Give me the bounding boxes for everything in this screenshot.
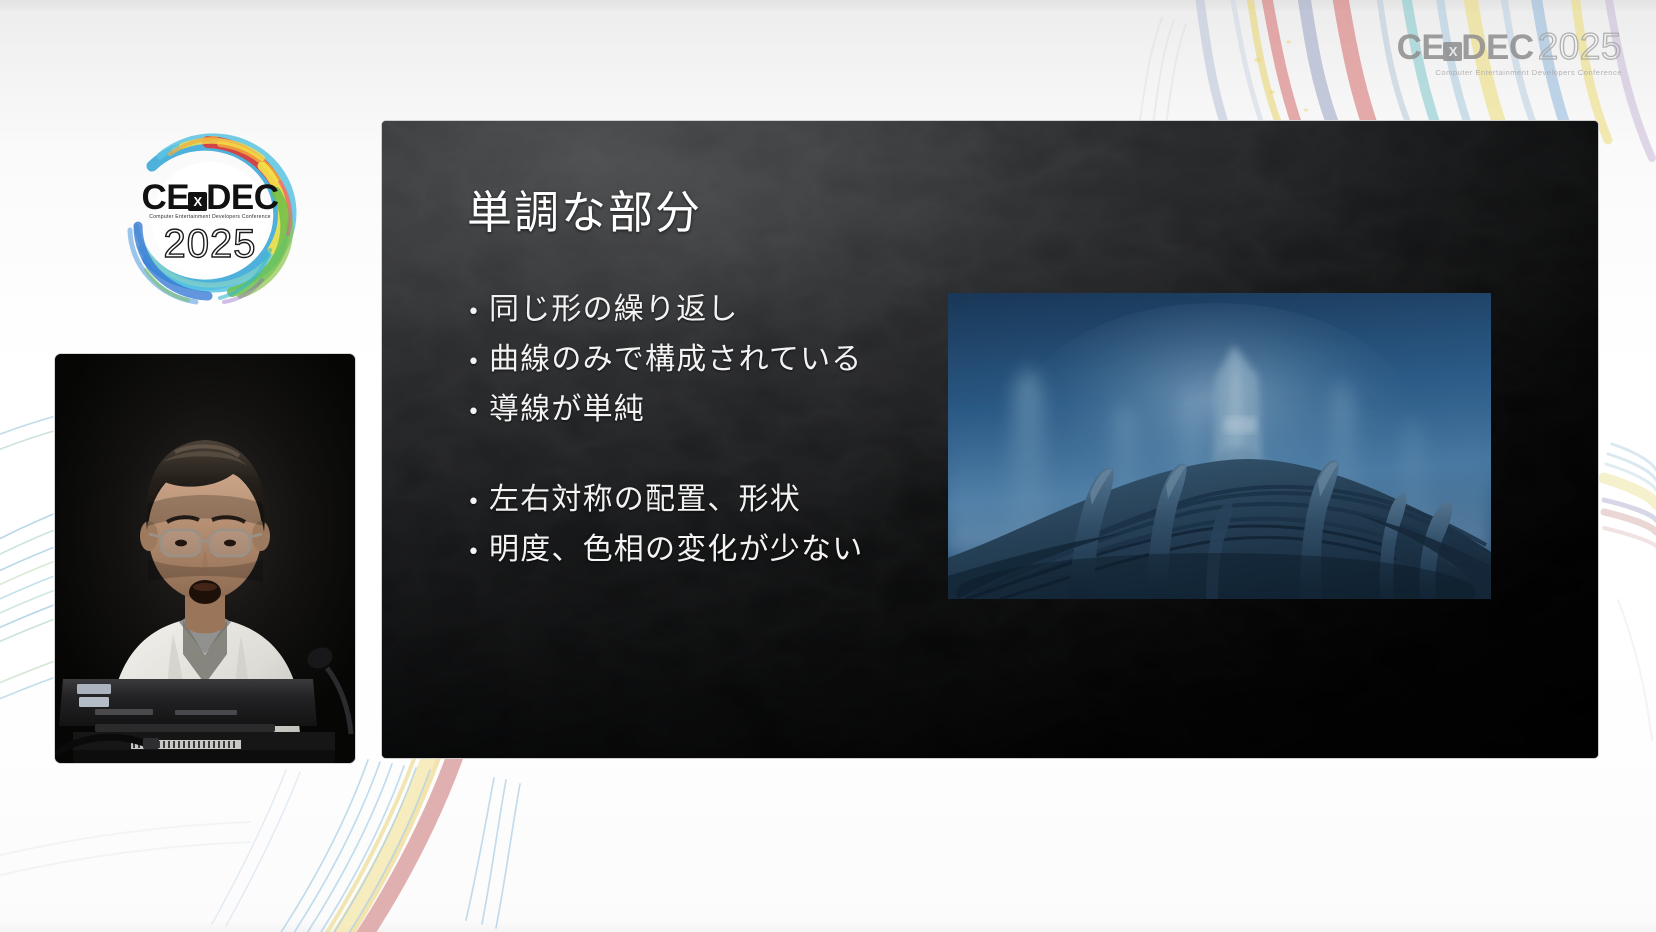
bullet-text: 左右対称の配置、形状 xyxy=(489,476,801,523)
bullet-marker-icon: • xyxy=(467,529,489,576)
wordmark-letters-left: CE xyxy=(1397,28,1445,67)
slide-bullet-group-a: • 同じ形の繰り返し • 曲線のみで構成されている • 導線が単純 xyxy=(467,286,863,436)
slide-bullet-item: • 同じ形の繰り返し xyxy=(467,286,863,336)
bullet-text: 曲線のみで構成されている xyxy=(489,336,863,383)
bullet-marker-icon: • xyxy=(467,339,489,386)
ring-logo-x-badge: X xyxy=(188,192,207,211)
screen-capture: CEXDEC Computer Entertainment Developers… xyxy=(0,0,1656,932)
slide-bullet-item: • 曲線のみで構成されている xyxy=(467,336,863,386)
bullet-text: 導線が単純 xyxy=(489,386,645,433)
ring-logo-letters-left: CE xyxy=(141,178,189,217)
presentation-slide[interactable]: 単調な部分 • 同じ形の繰り返し • 曲線のみで構成されている • 導線が単純 … xyxy=(381,120,1599,759)
slide-bullet-item: • 導線が単純 xyxy=(467,386,863,436)
ring-logo-wordmark: CEXDEC xyxy=(112,178,308,218)
bullet-marker-icon: • xyxy=(467,389,489,436)
slide-bullet-item: • 左右対称の配置、形状 xyxy=(467,476,863,526)
wordmark-letters-right: DEC xyxy=(1461,28,1533,67)
ring-logo-year: 2025 xyxy=(112,222,308,267)
bullet-marker-icon: • xyxy=(467,289,489,336)
ring-logo-subtitle: Computer Entertainment Developers Confer… xyxy=(112,214,308,220)
bullet-marker-icon: • xyxy=(467,479,489,526)
wordmark-cedec: CEXDEC xyxy=(1397,30,1534,65)
slide-title: 単調な部分 xyxy=(467,176,702,241)
wordmark-year: 2025 xyxy=(1538,28,1622,65)
bullet-text: 明度、色相の変化が少ない xyxy=(489,526,863,573)
cedec-wordmark-top-right: CEXDEC 2025 Computer Entertainment Devel… xyxy=(1397,28,1622,77)
slide-bullet-group-b: • 左右対称の配置、形状 • 明度、色相の変化が少ない xyxy=(467,476,863,576)
slide-bullet-item: • 明度、色相の変化が少ない xyxy=(467,526,863,576)
wordmark-x-badge: X xyxy=(1443,42,1462,61)
speaker-video-thumbnail[interactable]: Presenter with glasses speaking at a lec… xyxy=(54,353,356,764)
ring-logo-letters-right: DEC xyxy=(206,178,278,217)
slide-game-screenshot: Dark blue foggy underwater scene with a … xyxy=(948,293,1491,599)
cedec-ring-logo: CEXDEC Computer Entertainment Developers… xyxy=(112,130,308,310)
wordmark-row: CEXDEC 2025 xyxy=(1397,28,1622,65)
wordmark-subtitle: Computer Entertainment Developers Confer… xyxy=(1397,68,1622,77)
bullet-text: 同じ形の繰り返し xyxy=(489,286,739,333)
